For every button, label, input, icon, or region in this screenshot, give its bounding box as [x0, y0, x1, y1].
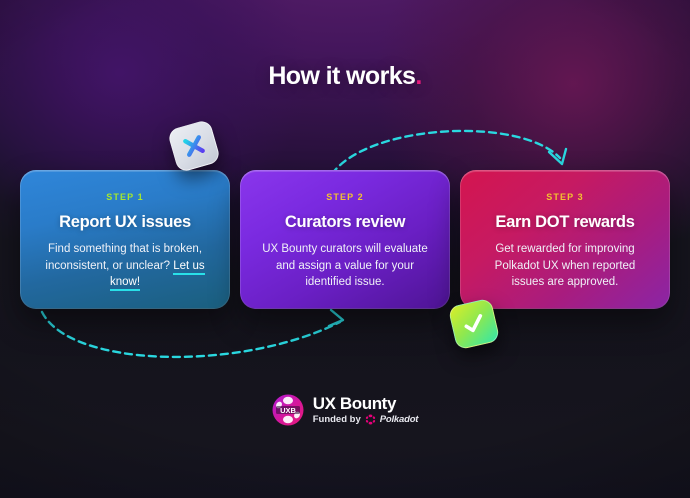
funded-by-label: Funded by	[313, 414, 361, 425]
uxb-logo-icon: UXB	[272, 394, 304, 426]
page-title-period: .	[415, 62, 421, 90]
step-card-2[interactable]: STEP 2 Curators review UX Bounty curator…	[240, 170, 450, 309]
step-card-3-title: Earn DOT rewards	[474, 213, 656, 232]
step-card-3-label: STEP 3	[474, 192, 656, 202]
step-card-2-title: Curators review	[254, 213, 436, 232]
footer-branding: UXB UX Bounty Funded by Polkadot	[0, 394, 690, 426]
step-card-1-body: Find something that is broken, inconsist…	[34, 241, 216, 291]
step-card-1[interactable]: STEP 1 Report UX issues Find something t…	[20, 170, 230, 309]
footer-text-block: UX Bounty Funded by Polkadot	[313, 395, 419, 425]
step-card-1-label: STEP 1	[34, 192, 216, 202]
step-card-2-body: UX Bounty curators will evaluate and ass…	[254, 241, 436, 291]
page-title: How it works.	[0, 62, 690, 91]
polkadot-logo-icon	[365, 414, 376, 425]
page-title-text: How it works	[268, 62, 415, 90]
x-mark-icon	[178, 130, 210, 162]
how-it-works-graphic: How it works. STEP 1 Report UX issues Fi…	[0, 0, 690, 498]
funded-by-row: Funded by Polkadot	[313, 414, 419, 425]
step-card-1-title: Report UX issues	[34, 213, 216, 232]
step-card-2-label: STEP 2	[254, 192, 436, 202]
check-mark-icon	[457, 307, 491, 341]
step-card-3-body: Get rewarded for improving Polkadot UX w…	[474, 241, 656, 291]
step-card-3[interactable]: STEP 3 Earn DOT rewards Get rewarded for…	[460, 170, 670, 309]
polkadot-name: Polkadot	[380, 414, 419, 425]
uxb-logo-text: UXB	[280, 406, 296, 415]
brand-name: UX Bounty	[313, 395, 419, 413]
